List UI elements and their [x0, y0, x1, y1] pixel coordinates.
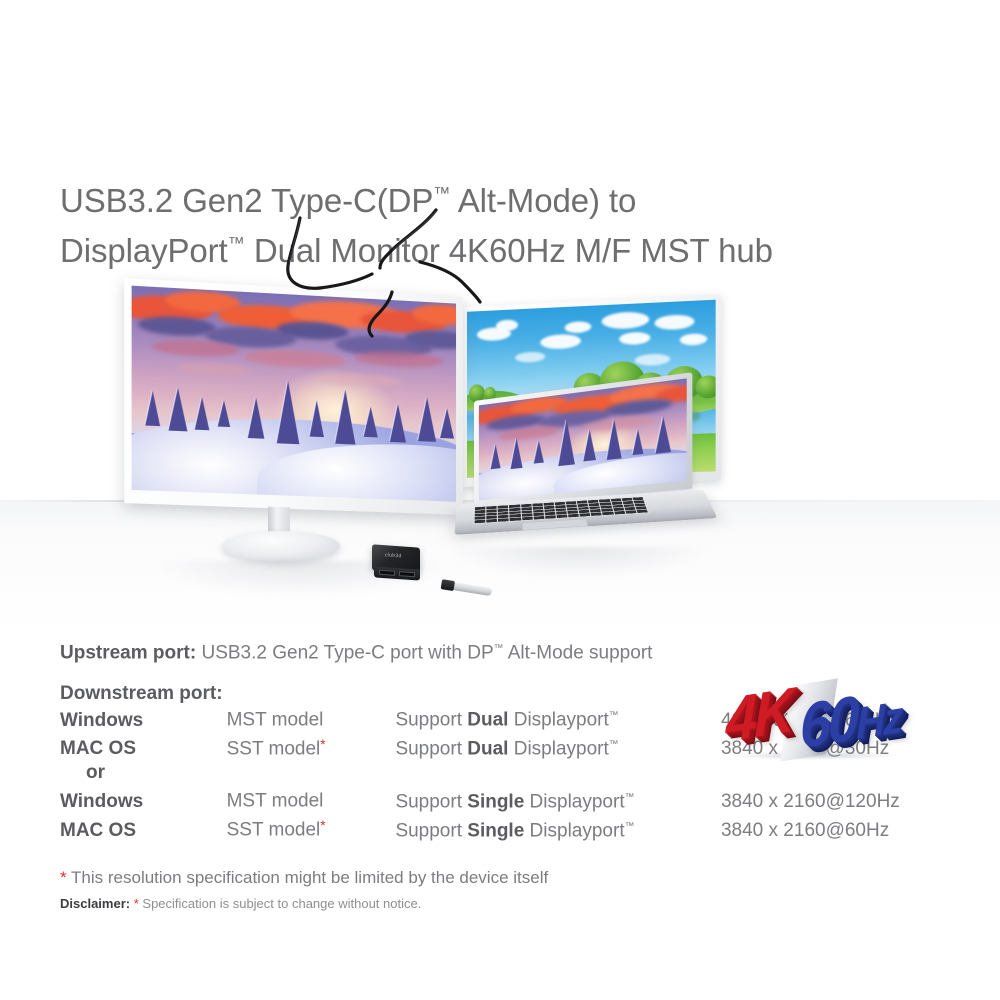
- row-0-model: MST model: [227, 704, 396, 733]
- upstream-port-value-a: USB3.2 Gen2 Type-C port with DP: [201, 642, 493, 663]
- title-line-2-text-b: Dual Monitor 4K60Hz M/F MST hub: [245, 232, 773, 269]
- monitor-left-stand-base: [222, 531, 340, 561]
- resolution-badge-4k60hz: 4K 60Hz: [724, 677, 904, 763]
- laptop-trackpad: [521, 519, 588, 531]
- upstream-port-value-b: Alt-Mode support: [504, 642, 653, 663]
- disclaimer-text: Specification is subject to change witho…: [139, 896, 422, 911]
- title-line-1: USB3.2 Gen2 Type-C(DP™ Alt-Mode) to: [60, 172, 960, 222]
- row-1-model: SST model*: [227, 733, 396, 762]
- row-1-model-asterisk: *: [320, 737, 325, 752]
- hub-port-2: [399, 571, 415, 577]
- monitor-left: [124, 278, 463, 515]
- disclaimer-line: Disclaimer: * Specification is subject t…: [60, 893, 960, 915]
- title-line-1-text-a: USB3.2 Gen2 Type-C(DP: [60, 182, 433, 219]
- laptop-screen: [479, 378, 687, 500]
- table-row: MAC OS SST model* Support Single Display…: [60, 814, 960, 843]
- row-1-support: Support Dual Displayport™: [395, 733, 721, 762]
- laptop-reflection: [452, 547, 702, 577]
- footnote-asterisk: *: [60, 868, 67, 887]
- row-2-resolution: 3840 x 2160@120Hz: [721, 785, 960, 814]
- table-row: Windows MST model Support Single Display…: [60, 785, 960, 814]
- page-title: USB3.2 Gen2 Type-C(DP™ Alt-Mode) to Disp…: [60, 172, 960, 272]
- hub-port-1: [379, 570, 395, 576]
- disclaimer-label: Disclaimer:: [60, 896, 130, 911]
- title-line-2-text-a: DisplayPort: [60, 232, 228, 269]
- badge-4k-text: 4K: [726, 678, 792, 751]
- footnotes-block: * This resolution specification might be…: [60, 866, 960, 915]
- winter-wallpaper: [132, 286, 456, 502]
- row-1-os: MAC OS: [60, 733, 227, 762]
- trademark-icon: ™: [228, 233, 245, 253]
- trademark-icon: ™: [494, 643, 504, 654]
- trademark-icon: ™: [625, 821, 635, 832]
- resolution-footnote: * This resolution specification might be…: [60, 866, 960, 890]
- hub-brand-logo: club3d: [385, 552, 402, 559]
- badge-hz-unit: Hz: [856, 693, 901, 749]
- trademark-icon: ™: [433, 183, 450, 203]
- row-3-model-asterisk: *: [320, 818, 325, 833]
- trademark-icon: ™: [609, 739, 619, 750]
- row-2-os: Windows: [60, 785, 227, 814]
- row-3-model: SST model*: [227, 814, 396, 843]
- badge-60-number: 60: [800, 682, 856, 761]
- trademark-icon: ™: [609, 710, 619, 721]
- row-0-support: Support Dual Displayport™: [395, 704, 721, 733]
- specifications-block: Upstream port: USB3.2 Gen2 Type-C port w…: [60, 636, 960, 666]
- row-2-support: Support Single Displayport™: [395, 785, 721, 814]
- upstream-port-label: Upstream port:: [60, 642, 196, 663]
- footnote-text: This resolution specification might be l…: [67, 868, 549, 887]
- laptop: [452, 401, 712, 551]
- title-line-1-text-b: Alt-Mode) to: [450, 182, 636, 219]
- row-2-model: MST model: [227, 785, 396, 814]
- row-3-os: MAC OS: [60, 814, 227, 843]
- row-3-support: Support Single Displayport™: [395, 814, 721, 843]
- downstream-port-label: Downstream port:: [60, 682, 223, 706]
- trademark-icon: ™: [625, 792, 635, 803]
- monitor-left-bezel: [124, 278, 463, 515]
- row-3-resolution: 3840 x 2160@60Hz: [721, 814, 960, 843]
- laptop-winter-wallpaper: [479, 378, 687, 500]
- title-line-2: DisplayPort™ Dual Monitor 4K60Hz M/F MST…: [60, 222, 960, 272]
- or-separator-label: or: [60, 761, 227, 785]
- product-hero-image: 4K 60Hz: [0, 285, 1000, 630]
- upstream-port-line: Upstream port: USB3.2 Gen2 Type-C port w…: [60, 636, 960, 666]
- monitor-left-screen: [132, 286, 456, 502]
- row-0-os: Windows: [60, 704, 227, 733]
- table-row-or: or: [60, 761, 960, 785]
